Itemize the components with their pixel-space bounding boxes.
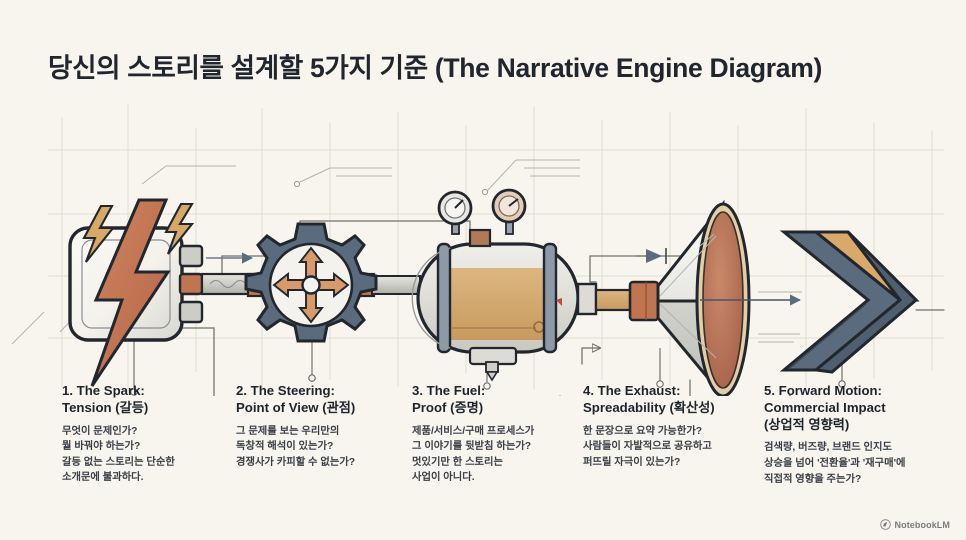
caption-fuel: 3. The Fuel: Proof (증명) 제품/서비스/구매 프로세스가 …: [412, 383, 582, 486]
caption-spark-body: 무엇이 문제인가? 뭘 바꿔야 하는가? 갈등 없는 스토리는 단순한 소개문에…: [62, 424, 234, 487]
caption-exhaust-heading: 4. The Exhaust: Spreadability (확산성): [583, 383, 759, 417]
stage-exhaust-icon: [630, 204, 800, 396]
caption-forward-motion-heading: 5. Forward Motion: Commercial Impact (상업…: [764, 383, 952, 433]
stage-spark-icon: [70, 200, 260, 386]
narrative-engine-diagram: [0, 96, 966, 396]
diagram-page: 당신의 스토리를 설계할 5가지 기준 (The Narrative Engin…: [0, 0, 966, 540]
caption-exhaust: 4. The Exhaust: Spreadability (확산성) 한 문장…: [583, 383, 759, 470]
caption-row: 1. The Spark: Tension (갈등) 무엇이 문제인가? 뭘 바…: [0, 383, 966, 503]
pressure-gauge-left: [439, 192, 471, 234]
caption-steering-body: 그 문제를 보는 우리만의 독창적 해석이 있는가? 경쟁사가 카피할 수 없는…: [236, 424, 408, 471]
caption-spark: 1. The Spark: Tension (갈등) 무엇이 문제인가? 뭘 바…: [62, 383, 234, 486]
notebooklm-watermark: NotebookLM: [880, 519, 951, 530]
caption-exhaust-body: 한 문장으로 요약 가능한가? 사람들이 자발적으로 공유하고 퍼뜨릴 자극이 …: [583, 424, 759, 471]
caption-steering-heading: 2. The Steering: Point of View (관점): [236, 383, 408, 417]
caption-forward-motion-body: 검색량, 버즈량, 브랜드 인지도 상승을 넘어 '전환율'과 '재구매'에 직…: [764, 440, 952, 487]
caption-forward-motion: 5. Forward Motion: Commercial Impact (상업…: [764, 383, 952, 487]
caption-fuel-heading: 3. The Fuel: Proof (증명): [412, 383, 582, 417]
page-title: 당신의 스토리를 설계할 5가지 기준 (The Narrative Engin…: [48, 46, 822, 85]
pressure-gauge-right: [493, 190, 525, 234]
stage-forward-motion-icon: [784, 232, 916, 372]
watermark-label: NotebookLM: [895, 520, 951, 530]
caption-fuel-body: 제품/서비스/구매 프로세스가 그 이야기를 뒷받침 하는가? 멋있기만 한 스…: [412, 424, 582, 487]
caption-spark-heading: 1. The Spark: Tension (갈등): [62, 383, 234, 417]
caption-steering: 2. The Steering: Point of View (관점) 그 문제…: [236, 383, 408, 470]
stage-steering-icon: [246, 224, 420, 341]
stage-fuel-icon: [412, 190, 638, 380]
notebooklm-logo-icon: [880, 519, 891, 530]
